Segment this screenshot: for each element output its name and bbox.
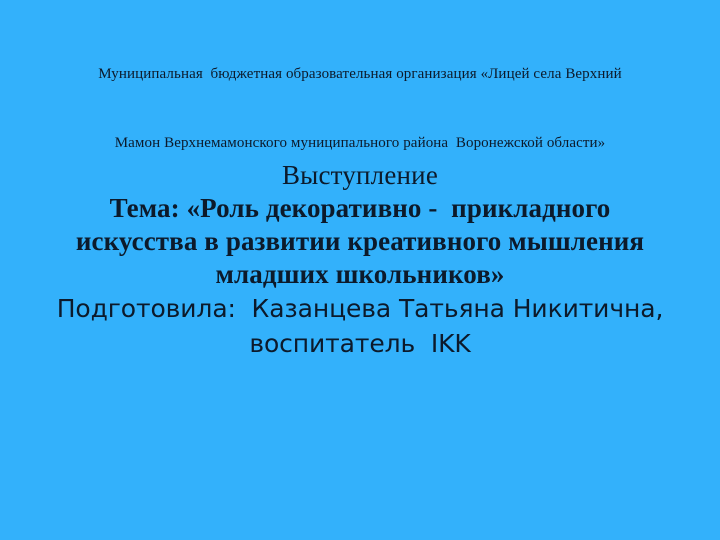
author-line-1: Подготовила: Казанцева Татьяна Никитична… xyxy=(20,291,700,326)
topic-line-3: младших школьников» xyxy=(20,258,700,291)
presentation-slide: Муниципальная бюджетная образовательная … xyxy=(0,0,720,540)
slide-title-block: Выступление Тема: «Роль декоративно - пр… xyxy=(20,158,700,361)
topic-line-2: искусства в развитии креативного мышлени… xyxy=(20,225,700,258)
author-line-2: воспитатель IKK xyxy=(20,326,700,361)
organization-header-line-1: Муниципальная бюджетная образовательная … xyxy=(30,63,690,86)
organization-header-line-2: Мамон Верхнемамонского муниципального ра… xyxy=(30,132,690,155)
speech-label: Выступление xyxy=(20,158,700,192)
topic-line-1: Тема: «Роль декоративно - прикладного xyxy=(20,192,700,225)
